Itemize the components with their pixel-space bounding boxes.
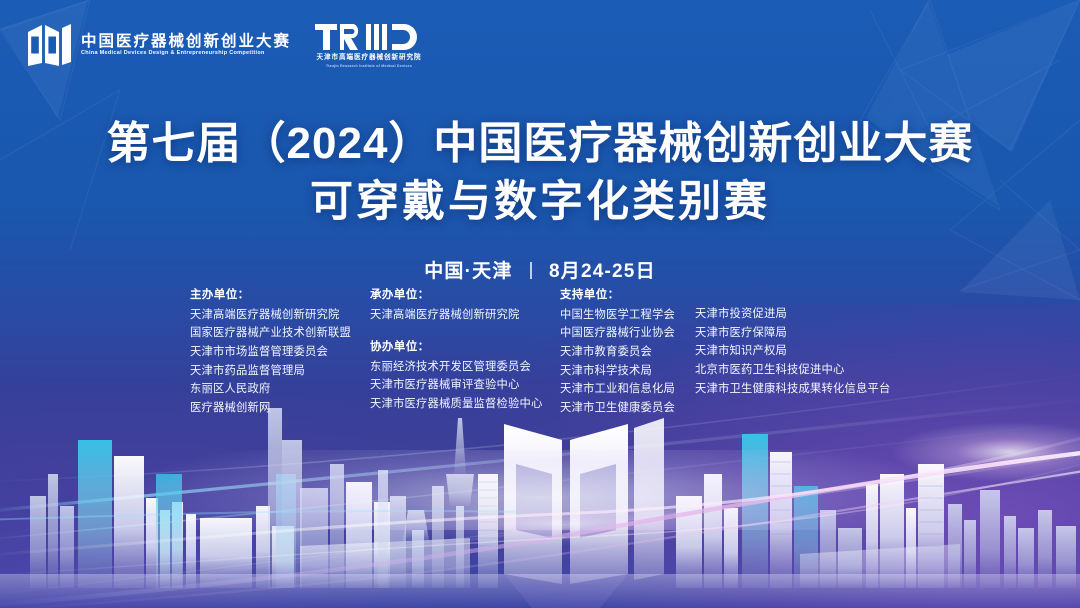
co-organizer-heading: 协办单位：: [370, 342, 560, 354]
cmdc-logo-text: 中国医疗器械创新创业大赛 China Medical Devices Desig…: [81, 34, 291, 57]
trimd-logo[interactable]: 天津市高端医疗器械创新研究院 Tianjin Research Institut…: [315, 22, 423, 68]
list-item: 中国医疗器械行业协会: [560, 328, 695, 339]
trimd-logo-title-cn: 天津市高端医疗器械创新研究院: [317, 55, 422, 62]
list-item: 天津市知识产权局: [695, 346, 900, 357]
list-item: 东丽经济技术开发区管理委员会: [370, 362, 560, 373]
trimd-logo-title-en: Tianjin Research Institute of Medical De…: [326, 65, 412, 69]
list-item: 天津市医疗器械质量监督检验中心: [370, 399, 560, 410]
list-item: 北京市医药卫生科技促进中心: [695, 365, 900, 376]
list-item: 天津市投资促进局: [695, 309, 900, 320]
host-heading: 主办单位：: [190, 290, 370, 302]
poster-title: 第七届（2024）中国医疗器械创新创业大赛 可穿戴与数字化类别赛: [0, 118, 1080, 228]
list-item: 天津市医疗器械审评查验中心: [370, 380, 560, 391]
list-item: 国家医疗器械产业技术创新联盟: [190, 328, 370, 339]
list-item: 东丽区人民政府: [190, 384, 370, 395]
cmdc-logo-title-cn: 中国医疗器械创新创业大赛: [81, 34, 291, 50]
cmdc-logo-title-en: China Medical Devices Design & Entrepren…: [81, 51, 295, 56]
list-item: 医疗器械创新网: [190, 403, 370, 414]
poster-canvas: 中国医疗器械创新创业大赛 China Medical Devices Desig…: [0, 0, 1080, 608]
event-location: 中国·天津: [424, 261, 512, 282]
list-item: 天津高端医疗器械创新研究院: [370, 310, 560, 321]
list-item: 天津市卫生健康科技成果转化信息平台: [695, 384, 900, 395]
event-meta: 中国·天津 8月24-25日: [0, 256, 1080, 283]
organizers-column-host: 主办单位： 天津高端医疗器械创新研究院 国家医疗器械产业技术创新联盟 天津市市场…: [190, 290, 370, 422]
organizers-column-organizer: 承办单位： 天津高端医疗器械创新研究院 协办单位： 东丽经济技术开发区管理委员会…: [370, 290, 560, 418]
open-door-book-logo-icon: [26, 22, 72, 68]
title-line-2: 可穿戴与数字化类别赛: [0, 177, 1080, 228]
trimd-wordmark-icon: [315, 22, 423, 52]
list-item: 中国生物医学工程学会: [560, 310, 695, 321]
list-item: 天津市药品监督管理局: [190, 366, 370, 377]
list-item: 天津市工业和信息化局: [560, 384, 695, 395]
supporters-heading: 支持单位：: [560, 290, 695, 302]
organizers-column-supporters: 支持单位： 中国生物医学工程学会 中国医疗器械行业协会 天津市教育委员会 天津市…: [560, 290, 900, 422]
organizers-block: 主办单位： 天津高端医疗器械创新研究院 国家医疗器械产业技术创新联盟 天津市市场…: [190, 290, 900, 422]
list-item: 天津高端医疗器械创新研究院: [190, 310, 370, 321]
supporters-left-list: 支持单位： 中国生物医学工程学会 中国医疗器械行业协会 天津市教育委员会 天津市…: [560, 290, 695, 422]
meta-divider: [530, 262, 532, 279]
list-item: 天津市教育委员会: [560, 347, 695, 358]
column-spacer: [695, 290, 900, 309]
list-item: 天津市医疗保障局: [695, 328, 900, 339]
title-line-1: 第七届（2024）中国医疗器械创新创业大赛: [0, 118, 1080, 170]
organizer-heading: 承办单位：: [370, 290, 560, 302]
cmdc-logo[interactable]: 中国医疗器械创新创业大赛 China Medical Devices Desig…: [26, 22, 291, 68]
list-item: 天津市卫生健康委员会: [560, 403, 695, 414]
supporters-right-list: 天津市投资促进局 天津市医疗保障局 天津市知识产权局 北京市医药卫生科技促进中心…: [695, 290, 900, 422]
list-item: 天津市市场监督管理委员会: [190, 347, 370, 358]
header-logo-bar: 中国医疗器械创新创业大赛 China Medical Devices Desig…: [26, 22, 423, 68]
list-item: 天津市科学技术局: [560, 366, 695, 377]
event-date: 8月24-25日: [549, 261, 656, 282]
